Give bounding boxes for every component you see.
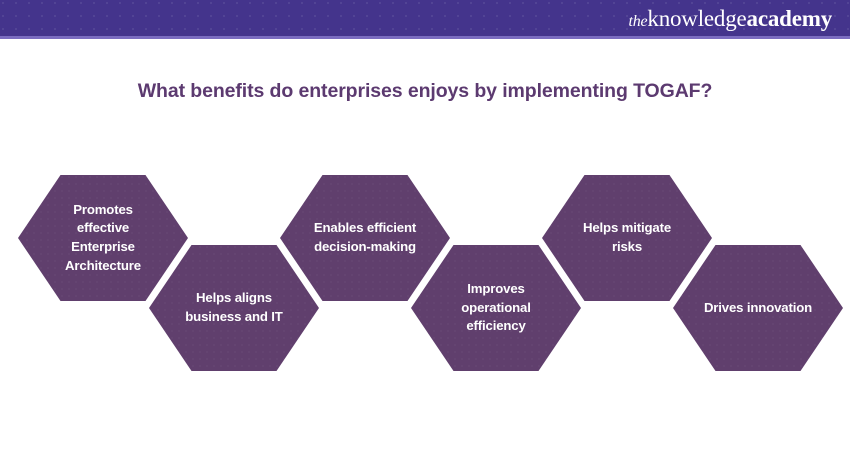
hexagon-label: Drives innovation <box>704 299 812 318</box>
hexagon-item[interactable]: Enables efficient decision-making <box>280 175 450 301</box>
hexagon-item[interactable]: Promotes effective Enterprise Architectu… <box>18 175 188 301</box>
hexagon-label: Enables efficient decision-making <box>310 219 420 256</box>
hexagon-label: Improves operational efficiency <box>441 280 551 336</box>
hexagon-label: Promotes effective Enterprise Architectu… <box>48 201 158 276</box>
hexagon-item[interactable]: Drives innovation <box>673 245 843 371</box>
hexagon-item[interactable]: Improves operational efficiency <box>411 245 581 371</box>
site-header: theknowledgeacademy <box>0 0 850 36</box>
hexagon-label: Helps aligns business and IT <box>179 289 289 326</box>
brand-logo[interactable]: theknowledgeacademy <box>628 7 832 30</box>
hexagon-diagram: Promotes effective Enterprise Architectu… <box>0 160 850 390</box>
logo-part-academy: academy <box>747 7 832 30</box>
logo-part-knowledge: knowledge <box>647 7 746 30</box>
page-title: What benefits do enterprises enjoys by i… <box>0 80 850 103</box>
hexagon-item[interactable]: Helps mitigate risks <box>542 175 712 301</box>
hexagon-item[interactable]: Helps aligns business and IT <box>149 245 319 371</box>
hexagon-label: Helps mitigate risks <box>572 219 682 256</box>
header-accent-line <box>0 36 850 39</box>
logo-part-the: the <box>628 14 647 30</box>
